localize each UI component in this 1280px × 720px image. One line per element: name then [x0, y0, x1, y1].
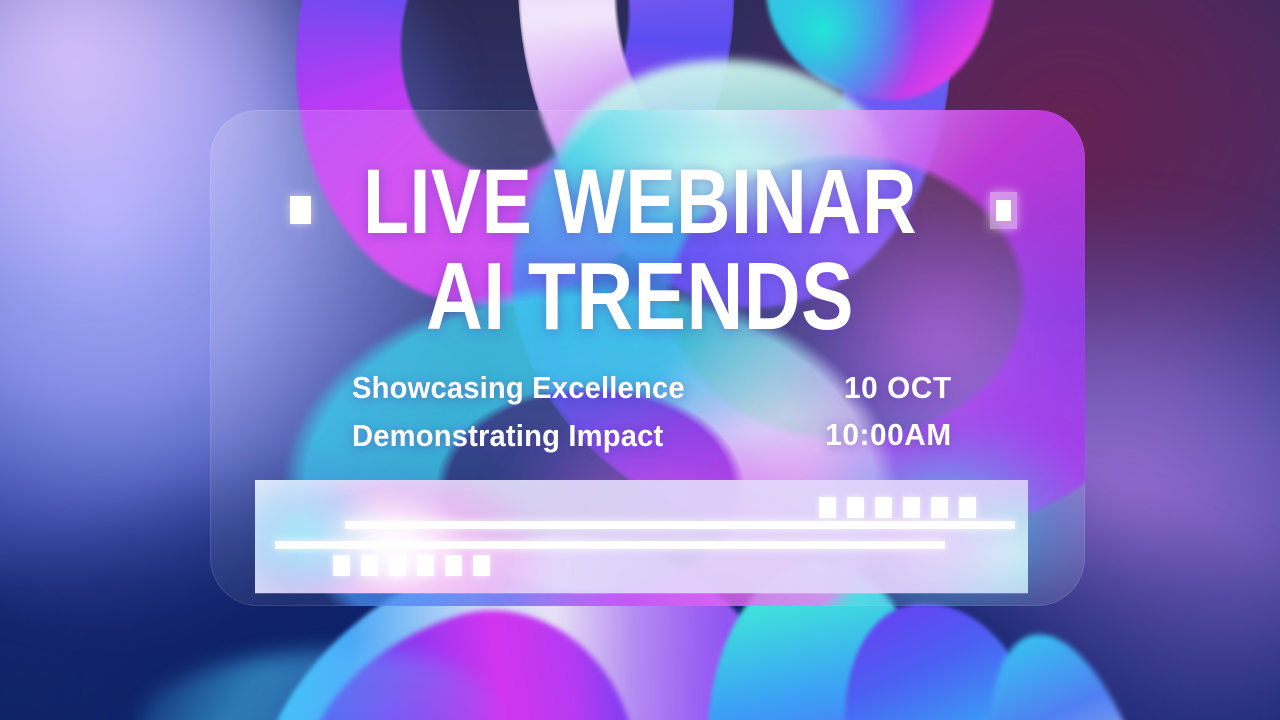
panel-square	[903, 497, 920, 518]
panel-square	[445, 555, 462, 576]
panel-square	[473, 555, 490, 576]
panel-square	[417, 555, 434, 576]
panel-square	[819, 497, 836, 518]
page-title-line2: AI TRENDS	[115, 253, 1165, 341]
event-tagline: Showcasing Excellence Demonstrating Impa…	[352, 370, 685, 465]
panel-square	[847, 497, 864, 518]
event-date: 10 OCT	[826, 370, 952, 407]
poster-canvas: LIVE WEBINAR AI TRENDS Showcasing Excell…	[0, 0, 1280, 720]
poster-content: LIVE WEBINAR AI TRENDS Showcasing Excell…	[0, 0, 1280, 720]
info-panel	[255, 480, 1028, 593]
panel-square-row-top	[819, 497, 976, 518]
panel-square-row-bottom	[333, 555, 490, 576]
event-time: 10:00AM	[826, 417, 952, 454]
panel-square	[875, 497, 892, 518]
panel-cyan-glow	[255, 480, 395, 593]
panel-square	[333, 555, 350, 576]
panel-bar-lower	[275, 541, 945, 549]
page-title-line1: LIVE WEBINAR	[115, 160, 1165, 245]
panel-square	[931, 497, 948, 518]
panel-square	[959, 497, 976, 518]
event-meta: Showcasing Excellence Demonstrating Impa…	[352, 370, 952, 465]
panel-square	[389, 555, 406, 576]
panel-bar-upper	[345, 521, 1015, 529]
tagline-line1: Showcasing Excellence	[352, 370, 685, 407]
tagline-line2: Demonstrating Impact	[352, 418, 685, 455]
panel-square	[361, 555, 378, 576]
event-datetime: 10 OCT 10:00AM	[826, 370, 952, 463]
